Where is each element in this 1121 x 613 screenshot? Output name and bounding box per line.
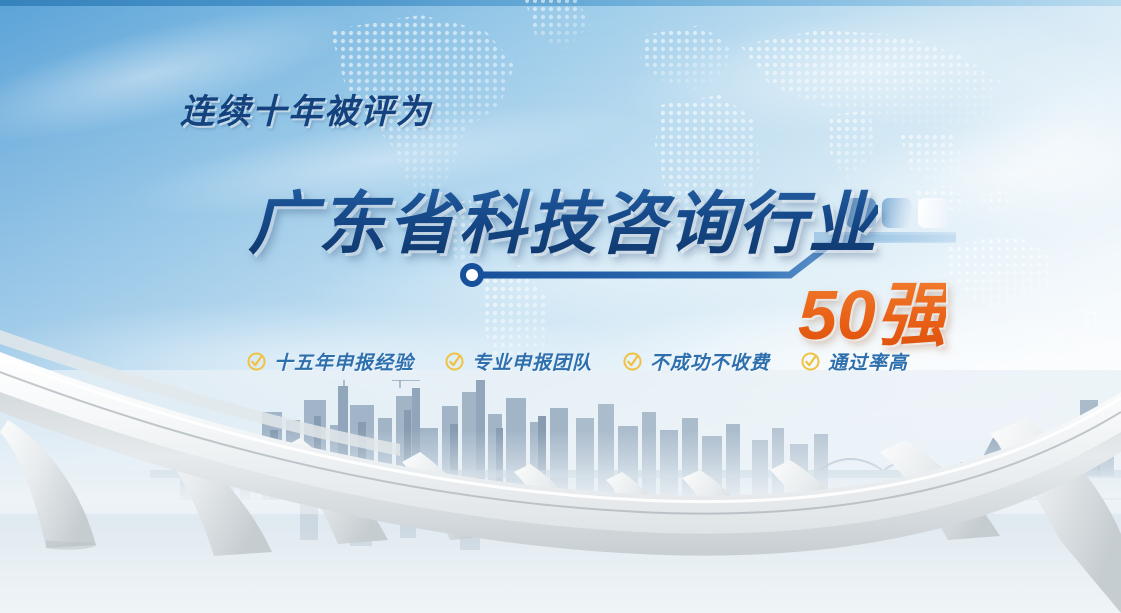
check-circle-icon [800,351,821,372]
check-circle-icon [622,351,643,372]
feature-item: 通过率高 [800,348,908,375]
sky-top-strip [0,0,1121,6]
feature-label: 不成功不收费 [650,348,770,375]
check-circle-icon [444,351,465,372]
feature-label: 十五年申报经验 [274,348,414,375]
feature-list: 十五年申报经验 专业申报团队 不成功不收费 通过率高 [246,348,908,375]
award-badge: 50强 [798,259,946,360]
page-title: 广东省科技咨询行业 [248,168,878,267]
feature-label: 专业申报团队 [472,348,592,375]
square-white [918,198,948,228]
feature-label: 通过率高 [828,348,908,375]
feature-item: 不成功不收费 [622,348,770,375]
feature-item: 十五年申报经验 [246,348,414,375]
kicker-text: 连续十年被评为 [180,84,432,133]
promo-banner: 连续十年被评为 广东省科技咨询行业 50强 十五年申报经验 专业申报团队 不成功… [0,0,1121,613]
square-gradient-blue [882,198,912,228]
feature-item: 专业申报团队 [444,348,592,375]
check-circle-icon [246,351,267,372]
